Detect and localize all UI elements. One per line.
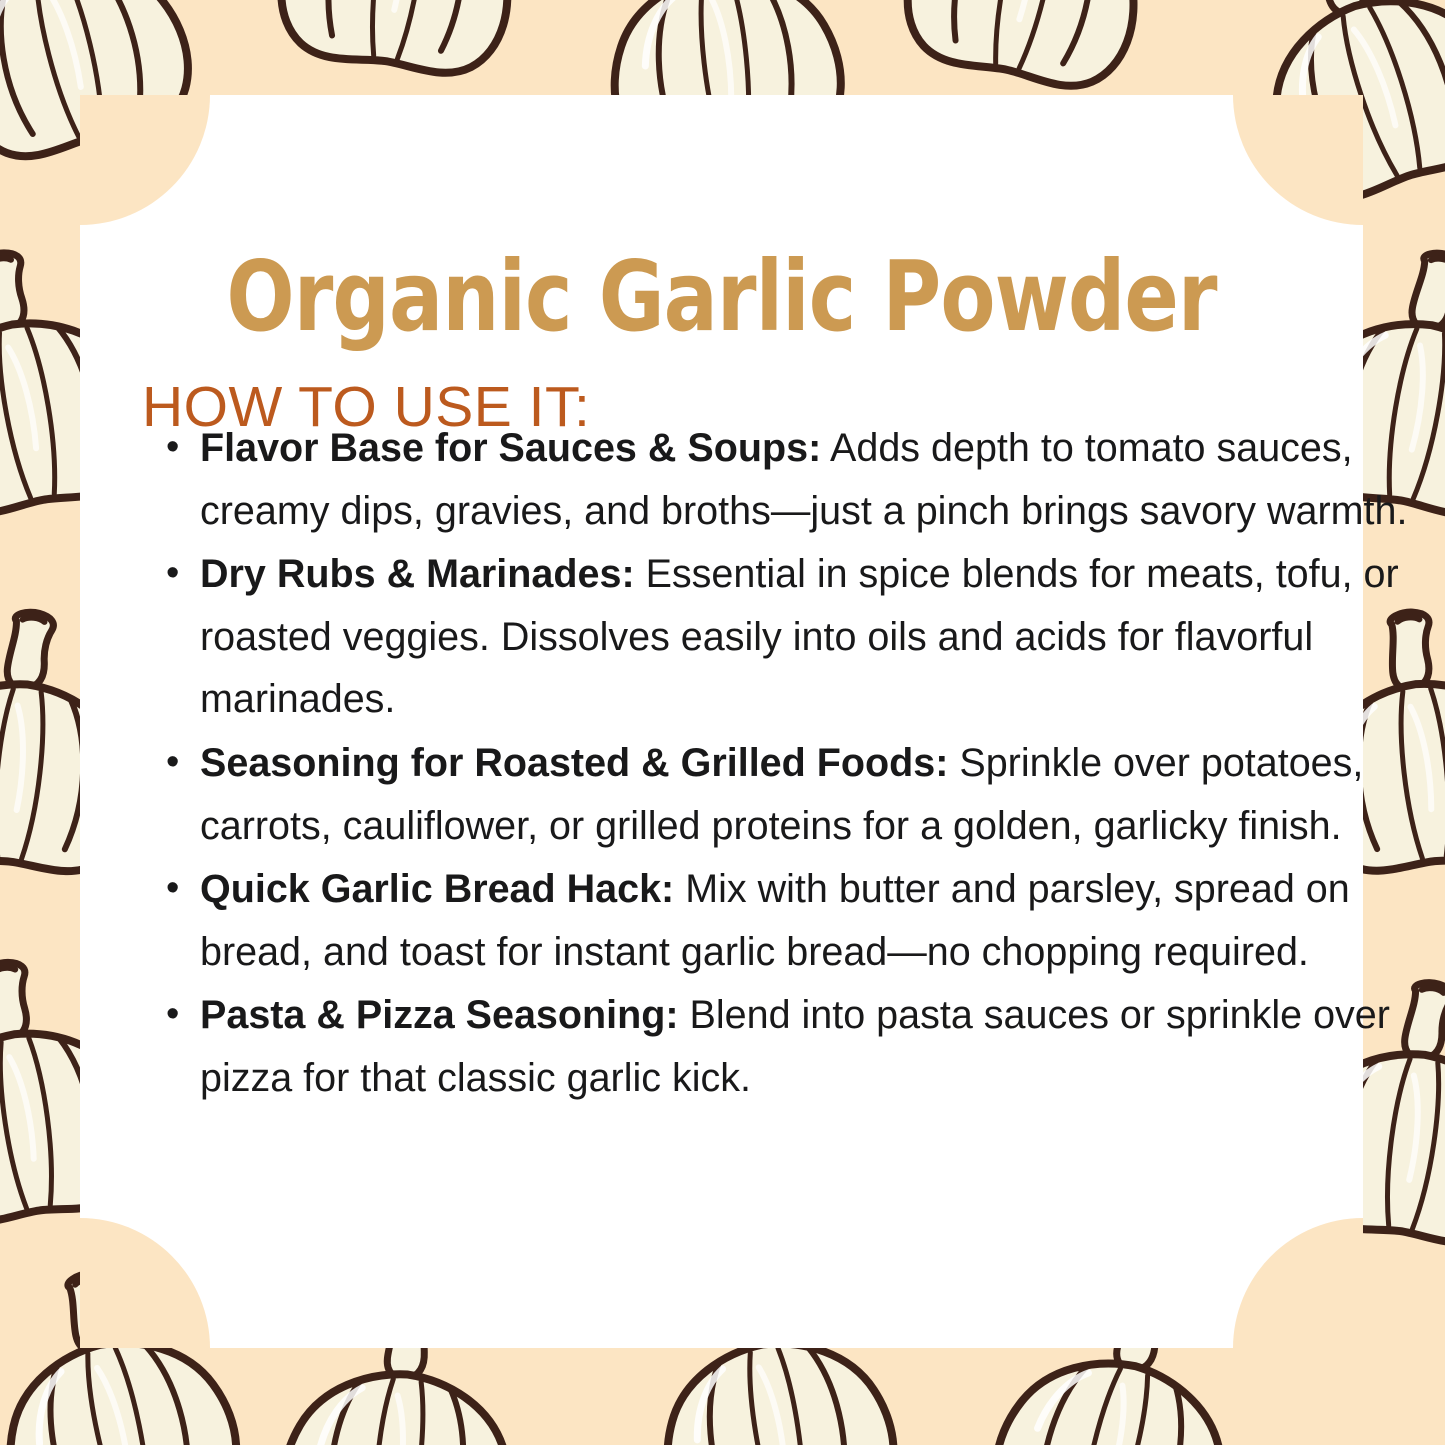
list-item: Seasoning for Roasted & Grilled Foods: S… [200,732,1415,857]
page-title: Organic Garlic Powder [131,248,1311,345]
list-item: Quick Garlic Bread Hack: Mix with butter… [200,858,1415,983]
list-item-lead: Seasoning for Roasted & Grilled Foods: [200,741,948,785]
list-item: Dry Rubs & Marinades: Essential in spice… [200,543,1415,731]
list-item: Pasta & Pizza Seasoning: Blend into past… [200,984,1415,1109]
list-item-lead: Flavor Base for Sauces & Soups: [200,426,821,470]
list-item: Flavor Base for Sauces & Soups: Adds dep… [200,417,1415,542]
list-item-lead: Quick Garlic Bread Hack: [200,867,674,911]
list-item-lead: Dry Rubs & Marinades: [200,552,635,596]
poster-canvas: Organic Garlic Powder HOW TO USE IT: Fla… [0,0,1445,1445]
card-text-layer: Organic Garlic Powder HOW TO USE IT: Fla… [80,95,1363,1348]
usage-list: Flavor Base for Sauces & Soups: Adds dep… [158,417,1415,1111]
list-item-lead: Pasta & Pizza Seasoning: [200,993,679,1037]
